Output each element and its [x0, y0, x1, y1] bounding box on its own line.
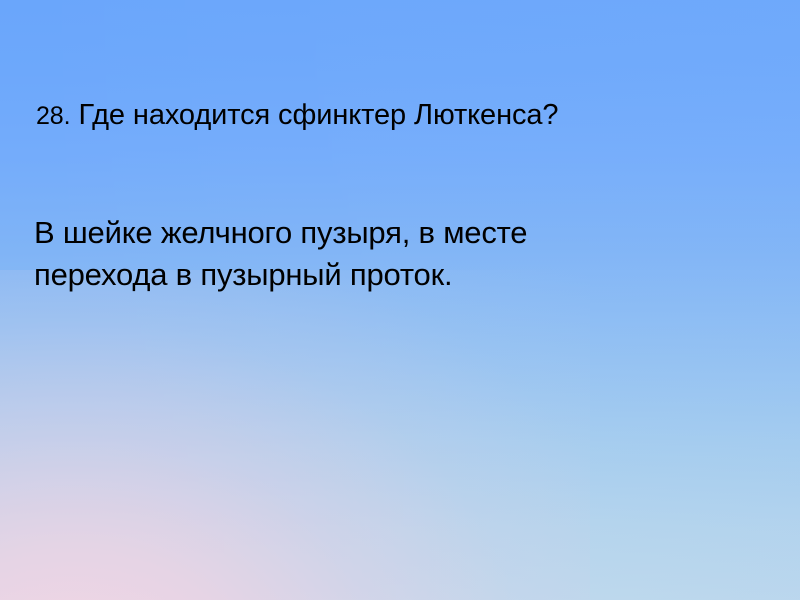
- question-text: Где находится сфинктер Люткенса?: [78, 99, 558, 131]
- answer-line-2: перехода в пузырный проток.: [34, 254, 774, 296]
- presentation-slide: 28. Где находится сфинктер Люткенса? В ш…: [0, 0, 800, 600]
- answer-block: В шейке желчного пузыря, в месте переход…: [34, 212, 774, 296]
- question-number: 28.: [36, 102, 70, 130]
- question-block: 28. Где находится сфинктер Люткенса?: [36, 96, 764, 135]
- question-line: 28. Где находится сфинктер Люткенса?: [36, 96, 764, 135]
- answer-line-1: В шейке желчного пузыря, в месте: [34, 212, 774, 254]
- slide-content: 28. Где находится сфинктер Люткенса? В ш…: [0, 0, 800, 600]
